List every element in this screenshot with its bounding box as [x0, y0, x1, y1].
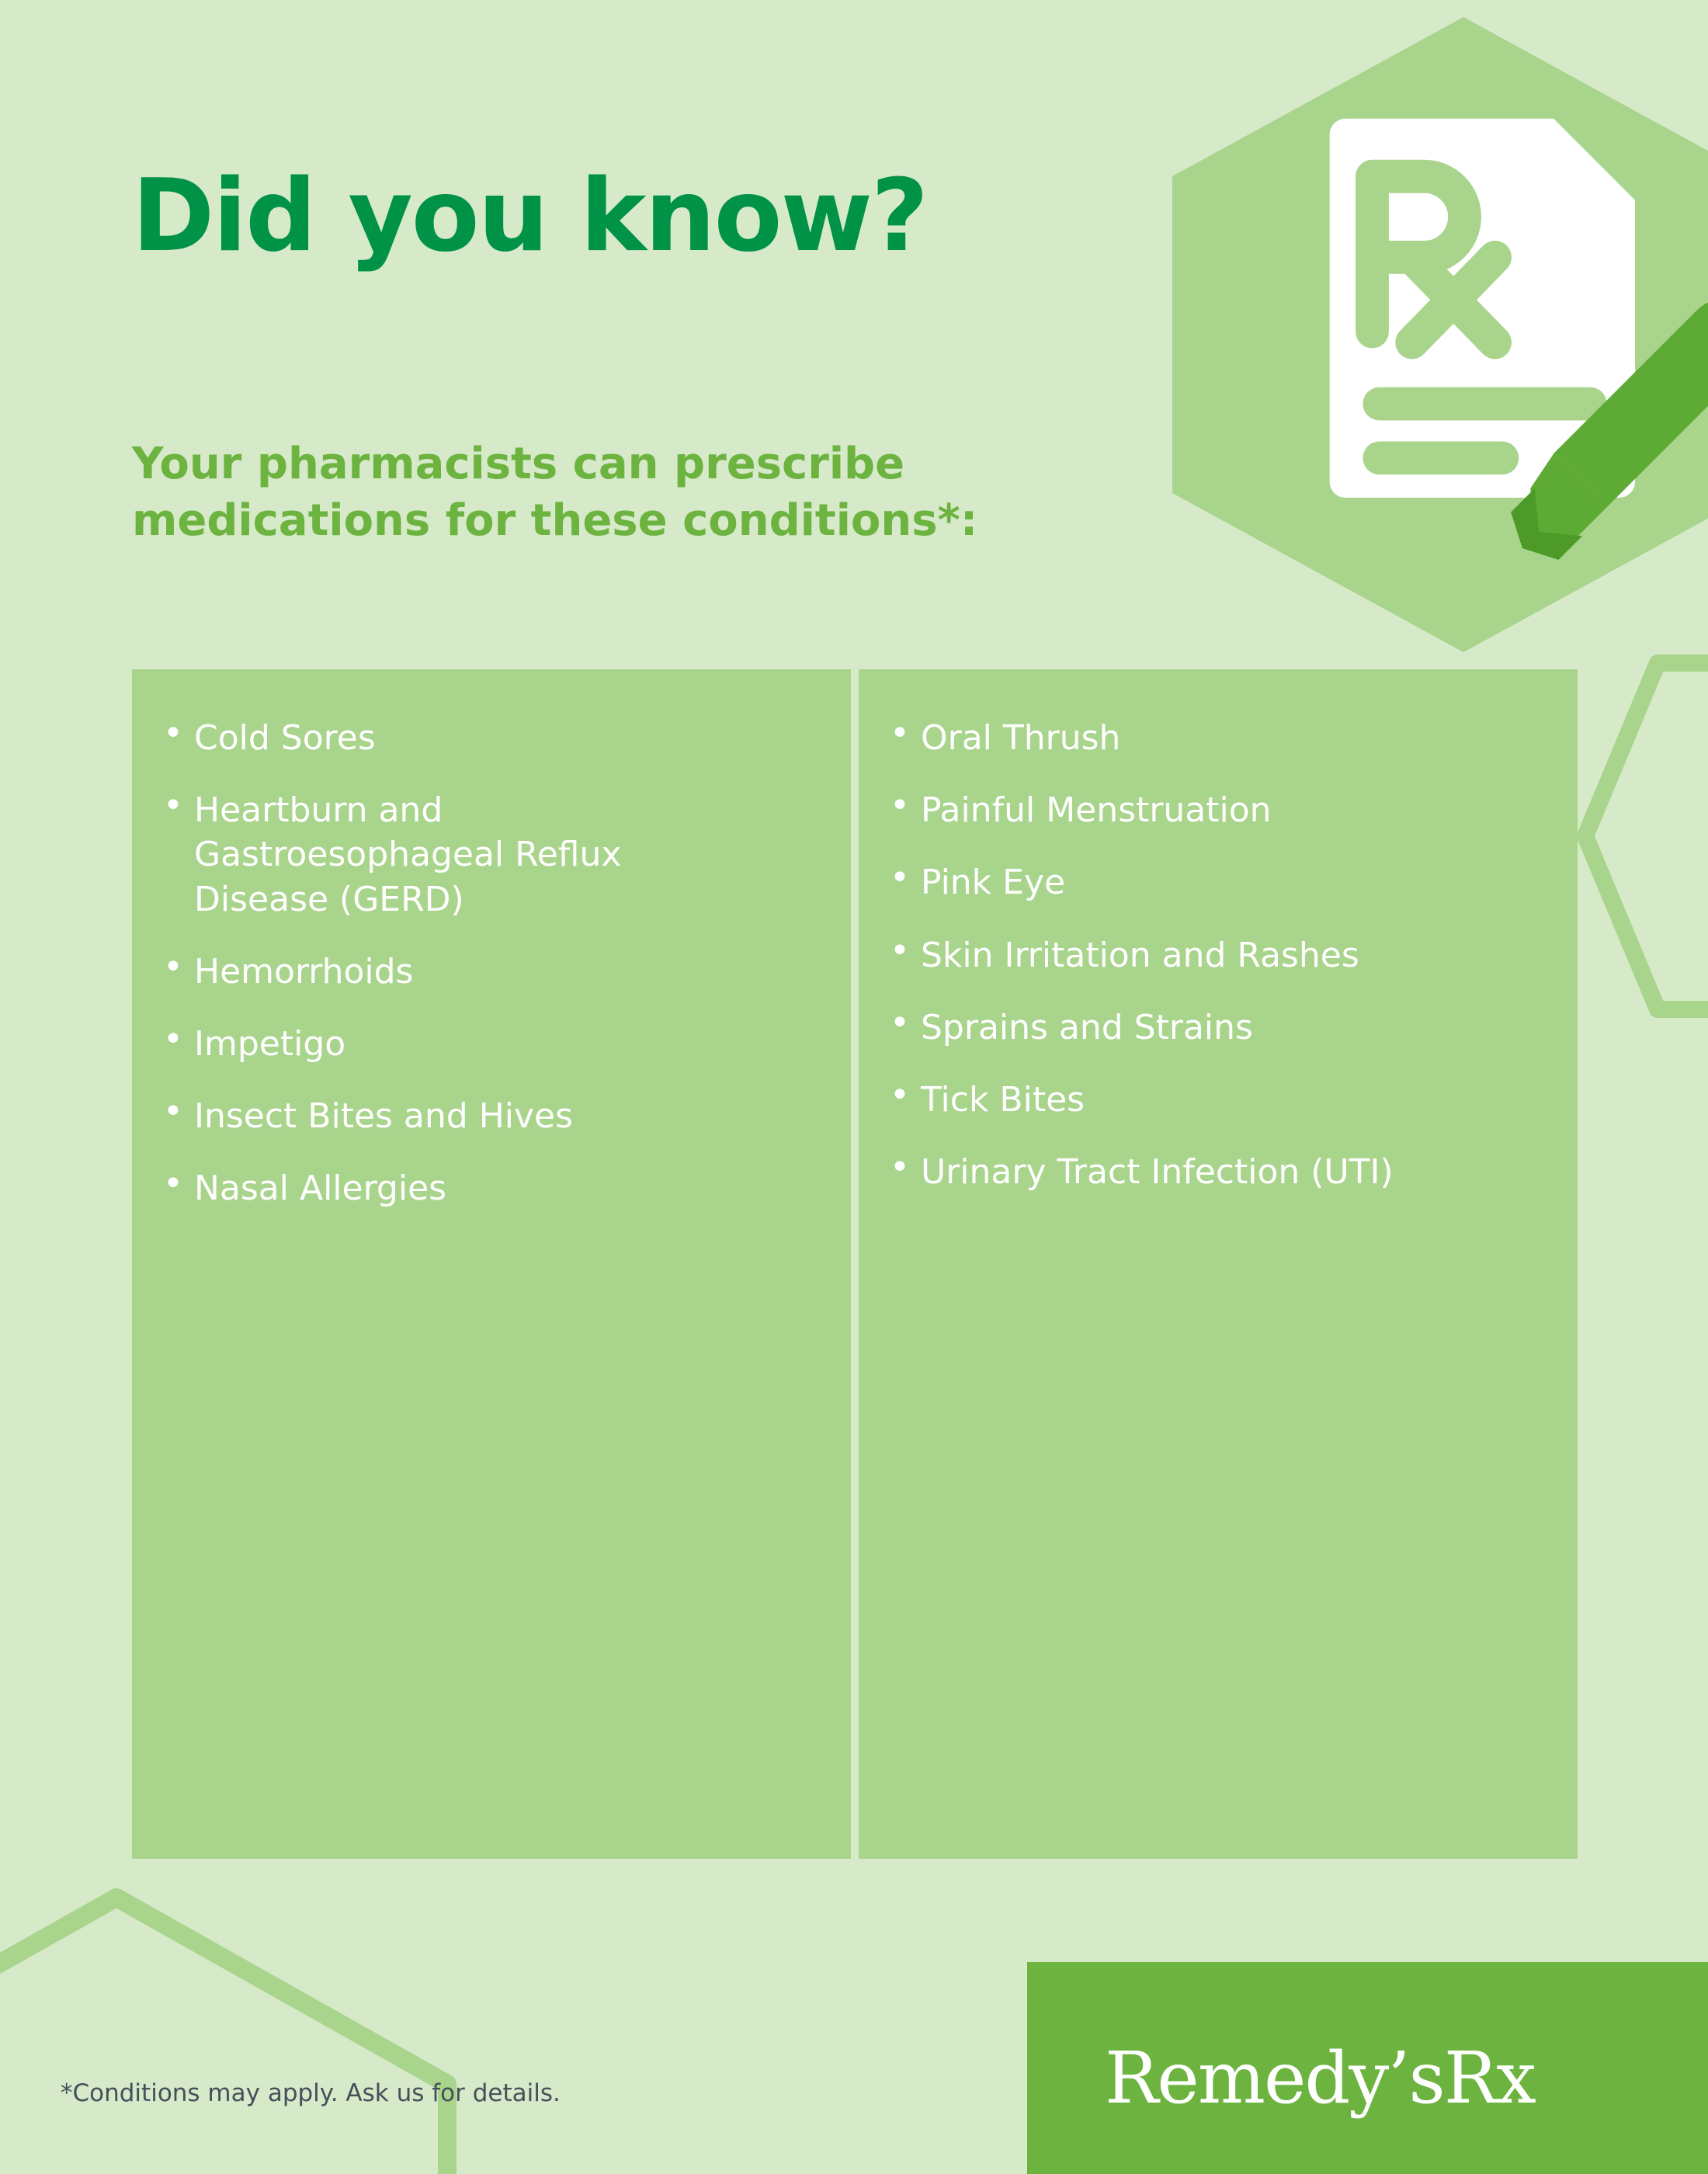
list-item: • Nasal Allergies	[163, 1166, 820, 1210]
condition-label: Skin Irritation and Rashes	[921, 933, 1547, 978]
conditions-list-right: • Oral Thrush • Painful Menstruation • P…	[890, 716, 1547, 1194]
bullet-icon: •	[163, 716, 194, 752]
footnote-text: *Conditions may apply. Ask us for detail…	[61, 2079, 561, 2107]
condition-label: Oral Thrush	[921, 716, 1547, 760]
list-item: • Impetigo	[163, 1022, 820, 1066]
condition-label: Cold Sores	[194, 716, 738, 760]
hexagon-outline-bottom-left	[0, 1887, 458, 2174]
bullet-icon: •	[890, 788, 921, 824]
condition-label: Sprains and Strains	[921, 1005, 1547, 1050]
list-item: • Pink Eye	[890, 860, 1547, 905]
subtitle-line-1: Your pharmacists can prescribe	[132, 436, 1141, 493]
bullet-icon: •	[163, 1022, 194, 1057]
conditions-panels: • Cold Sores • Heartburn and Gastroesoph…	[132, 669, 1578, 1859]
subtitle-line-2: medications for these conditions*:	[132, 493, 1141, 550]
bullet-icon: •	[163, 1166, 194, 1202]
list-item: • Insect Bites and Hives	[163, 1094, 820, 1138]
brand-logo: Remedy’sRx ®	[1027, 1962, 1708, 2174]
list-item: • Sprains and Strains	[890, 1005, 1547, 1050]
bullet-icon: •	[890, 933, 921, 969]
condition-label: Nasal Allergies	[194, 1166, 738, 1210]
list-item: • Oral Thrush	[890, 716, 1547, 760]
page-subtitle: Your pharmacists can prescribe medicatio…	[132, 436, 1141, 550]
list-item: • Heartburn and Gastroesophageal Reflux …	[163, 788, 820, 922]
bullet-icon: •	[890, 1078, 921, 1113]
logo-wordmark: Remedy’sRx	[1105, 2037, 1535, 2120]
hexagon-outline-right	[1576, 654, 1708, 1019]
list-item: • Urinary Tract Infection (UTI)	[890, 1150, 1547, 1194]
conditions-panel-right: • Oral Thrush • Painful Menstruation • P…	[859, 669, 1578, 1859]
bullet-icon: •	[163, 950, 194, 985]
list-item: • Skin Irritation and Rashes	[890, 933, 1547, 978]
list-item: • Hemorrhoids	[163, 950, 820, 994]
condition-label: Heartburn and Gastroesophageal Reflux Di…	[194, 788, 738, 922]
conditions-list-left: • Cold Sores • Heartburn and Gastroesoph…	[163, 716, 820, 1211]
poster-canvas: Did you know? Your pharmacists can presc…	[0, 0, 1708, 2174]
condition-label: Tick Bites	[921, 1078, 1547, 1122]
list-item: • Cold Sores	[163, 716, 820, 760]
condition-label: Impetigo	[194, 1022, 738, 1066]
page-title: Did you know?	[132, 167, 927, 266]
hexagon-badge	[1172, 17, 1708, 652]
condition-label: Insect Bites and Hives	[194, 1094, 738, 1138]
bullet-icon: •	[163, 1094, 194, 1130]
condition-label: Urinary Tract Infection (UTI)	[921, 1150, 1547, 1194]
condition-label: Pink Eye	[921, 860, 1547, 905]
bullet-icon: •	[890, 1005, 921, 1041]
bullet-icon: •	[890, 716, 921, 752]
condition-label: Painful Menstruation	[921, 788, 1547, 832]
bullet-icon: •	[890, 1150, 921, 1186]
condition-label: Hemorrhoids	[194, 950, 738, 994]
bullet-icon: •	[890, 860, 921, 896]
bullet-icon: •	[163, 788, 194, 824]
conditions-panel-left: • Cold Sores • Heartburn and Gastroesoph…	[132, 669, 851, 1859]
list-item: • Painful Menstruation	[890, 788, 1547, 832]
list-item: • Tick Bites	[890, 1078, 1547, 1122]
